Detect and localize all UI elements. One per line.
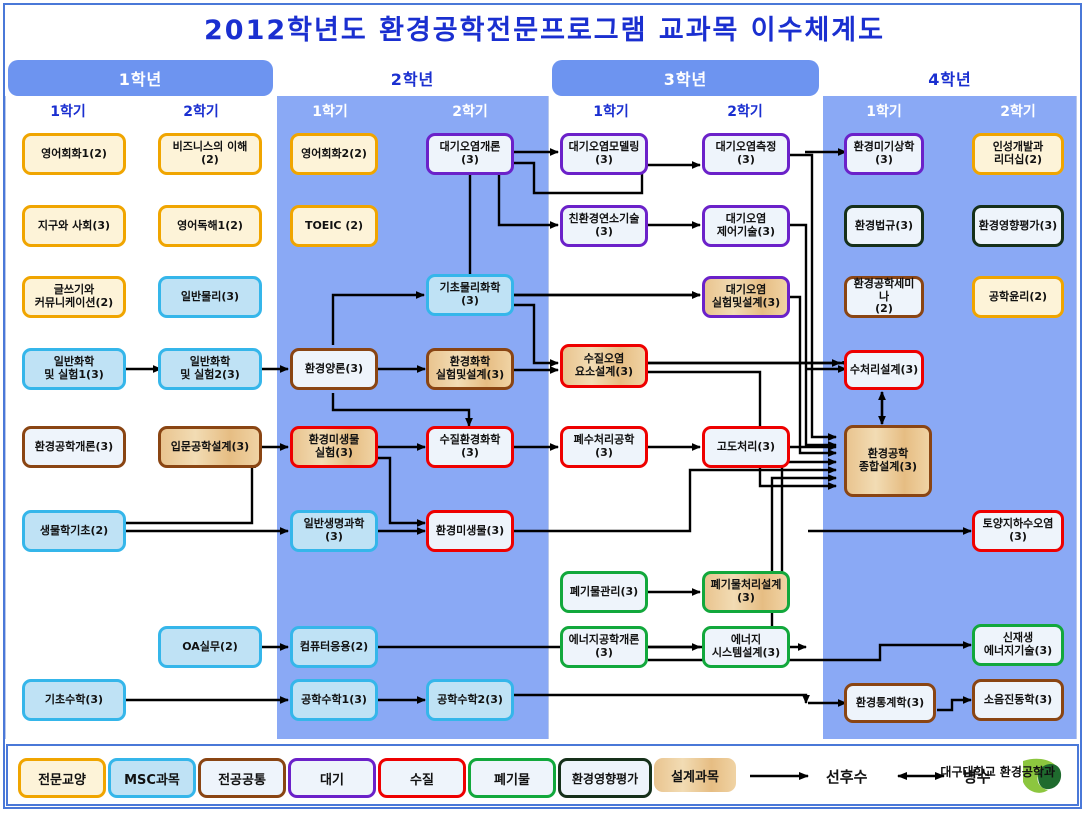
- course-box[interactable]: 기초수학(3): [22, 679, 126, 721]
- course-label: 생물학기초(2): [40, 525, 108, 538]
- legend-bar: 전문교양 MSC과목 전공공통 대기 수질 폐기물 환경영향평가 설계과목 선후…: [6, 744, 1079, 806]
- legend-item-design[interactable]: 설계과목: [654, 758, 736, 792]
- course-label: 대기오염제어기술(3): [717, 213, 775, 239]
- course-box[interactable]: 영어회화1(2): [22, 133, 126, 175]
- course-label: 토양지하수오염(3): [983, 518, 1054, 544]
- year-tab-4[interactable]: 4학년: [823, 60, 1077, 96]
- semester-label-text: 2학기: [183, 104, 219, 120]
- course-box[interactable]: 공학수학1(3): [290, 679, 378, 721]
- course-box[interactable]: 수질오염요소설계(3): [560, 344, 648, 388]
- course-label: 대기오염개론(3): [431, 141, 509, 167]
- semester-label-text: 1학기: [593, 104, 629, 120]
- semester-label-text: 1학기: [866, 104, 902, 120]
- course-label: 친환경연소기술(3): [569, 213, 640, 239]
- course-box[interactable]: 소음진동학(3): [972, 679, 1064, 721]
- year-tab-label: 2학년: [391, 66, 435, 90]
- course-label: 대기오염측정(3): [707, 141, 785, 167]
- course-box[interactable]: 영어독해1(2): [158, 205, 262, 247]
- course-box[interactable]: 대기오염개론(3): [426, 133, 514, 175]
- course-label: 기초수학(3): [45, 694, 103, 707]
- course-box[interactable]: 지구와 사회(3): [22, 205, 126, 247]
- course-box[interactable]: 공학윤리(2): [972, 276, 1064, 318]
- course-box[interactable]: 일반화학및 실험2(3): [158, 348, 262, 390]
- legend-item-eia[interactable]: 환경영향평가: [558, 758, 652, 798]
- course-label: 대기오염모델링(3): [569, 141, 640, 167]
- course-label: 신재생에너지기술(3): [984, 632, 1052, 658]
- course-box[interactable]: 환경통계학(3): [844, 683, 936, 723]
- course-label: 일반화학및 실험1(3): [44, 356, 104, 382]
- semester-label-y3s2: 2학기: [690, 101, 800, 121]
- legend-label: 설계과목: [671, 766, 719, 785]
- course-box[interactable]: 인성개발과리더십(2): [972, 133, 1064, 175]
- course-box[interactable]: 환경영향평가(3): [972, 205, 1064, 247]
- course-label: 일반물리(3): [181, 291, 239, 304]
- course-box[interactable]: 수처리설계(3): [844, 350, 924, 390]
- legend-label: 전문교양: [38, 769, 86, 788]
- course-label: 수처리설계(3): [850, 364, 918, 377]
- semester-label-text: 1학기: [50, 104, 86, 120]
- legend-label: 환경영향평가: [572, 770, 638, 787]
- legend-label: 전공공통: [218, 769, 266, 788]
- course-box[interactable]: 일반생명과학(3): [290, 510, 378, 552]
- single-arrow-icon: [748, 768, 816, 784]
- course-box[interactable]: 고도처리(3): [702, 426, 790, 468]
- page-title: 2012학년도 환경공학전문프로그램 교과목 이수체계도: [0, 8, 1089, 47]
- year-tab-1[interactable]: 1학년: [8, 60, 273, 96]
- course-label: 환경공학개론(3): [35, 441, 113, 454]
- course-box[interactable]: 수질환경화학(3): [426, 426, 514, 468]
- course-box[interactable]: 생물학기초(2): [22, 510, 126, 552]
- course-label: 폐수처리공학(3): [565, 434, 643, 460]
- legend-item-air[interactable]: 대기: [288, 758, 376, 798]
- course-label: 일반화학및 실험2(3): [180, 356, 240, 382]
- course-label: 환경화학실험및설계(3): [436, 356, 504, 382]
- course-label: 고도처리(3): [717, 441, 775, 454]
- course-box[interactable]: 영어회화2(2): [290, 133, 378, 175]
- course-label: 폐기물관리(3): [570, 586, 638, 599]
- course-box[interactable]: 환경양론(3): [290, 348, 378, 390]
- course-box[interactable]: 일반화학및 실험1(3): [22, 348, 126, 390]
- legend-item-waste[interactable]: 폐기물: [468, 758, 556, 798]
- course-box[interactable]: 환경공학개론(3): [22, 426, 126, 468]
- course-label: 지구와 사회(3): [38, 220, 110, 233]
- course-label: 일반생명과학(3): [295, 518, 373, 544]
- course-box[interactable]: 에너지공학개론(3): [560, 626, 648, 668]
- course-box[interactable]: 대기오염실험및설계(3): [702, 276, 790, 318]
- column-separator: [1076, 96, 1077, 739]
- course-box[interactable]: 환경공학종합설계(3): [844, 425, 932, 497]
- column-separator: [5, 96, 6, 739]
- course-box[interactable]: 폐기물처리설계(3): [702, 571, 790, 613]
- course-label: 소음진동학(3): [984, 694, 1052, 707]
- course-box[interactable]: 환경미기상학(3): [844, 133, 924, 175]
- course-box[interactable]: 대기오염모델링(3): [560, 133, 648, 175]
- organization-name: 대구대학교 환경공학과: [940, 763, 1055, 780]
- course-label: 환경공학종합설계(3): [859, 448, 917, 474]
- course-label: 환경양론(3): [305, 363, 363, 376]
- course-label: 폐기물처리설계(3): [711, 579, 782, 605]
- course-box[interactable]: 환경미생물실험(3): [290, 426, 378, 468]
- course-box[interactable]: 환경법규(3): [844, 205, 924, 247]
- semester-label-y1s1: 1학기: [13, 101, 123, 121]
- course-box[interactable]: 일반물리(3): [158, 276, 262, 318]
- legend-label: 수질: [410, 769, 434, 788]
- year-tab-2[interactable]: 2학년: [277, 60, 548, 96]
- course-box[interactable]: 폐기물관리(3): [560, 571, 648, 613]
- year-tab-label: 4학년: [928, 66, 972, 90]
- legend-label: 대기: [320, 769, 344, 788]
- course-label: 영어회화2(2): [301, 148, 367, 161]
- course-box[interactable]: 환경공학세미나(2): [844, 276, 924, 318]
- course-label: 수질오염요소설계(3): [575, 353, 633, 379]
- curriculum-flowchart-page: 2012학년도 환경공학전문프로그램 교과목 이수체계도 1학년 2학년 3학년…: [0, 0, 1089, 814]
- semester-label-text: 2학기: [727, 104, 763, 120]
- semester-label-y3s1: 1학기: [556, 101, 666, 121]
- course-box[interactable]: 입문공학설계(3): [158, 426, 262, 468]
- course-box[interactable]: 공학수학2(3): [426, 679, 514, 721]
- course-label: 공학윤리(2): [989, 291, 1047, 304]
- course-label: 환경법규(3): [855, 220, 913, 233]
- course-box[interactable]: 글쓰기와커뮤니케이션(2): [22, 276, 126, 318]
- course-box[interactable]: 폐수처리공학(3): [560, 426, 648, 468]
- course-box[interactable]: 대기오염측정(3): [702, 133, 790, 175]
- semester-label-y2s2: 2학기: [415, 101, 525, 121]
- course-label: 비즈니스의 이해(2): [173, 141, 248, 167]
- course-label: 환경통계학(3): [856, 697, 924, 710]
- course-label: 컴퓨터응용(2): [300, 641, 368, 654]
- legend-prereq-label: 선후수: [826, 766, 867, 787]
- legend-label: 폐기물: [494, 769, 530, 788]
- course-box[interactable]: 환경미생물(3): [426, 510, 514, 552]
- course-label: 환경공학세미나(2): [849, 278, 919, 317]
- course-box[interactable]: 대기오염제어기술(3): [702, 205, 790, 247]
- semester-label-y2s1: 1학기: [275, 101, 385, 121]
- course-label: OA실무(2): [182, 641, 238, 654]
- course-label: 공학수학2(3): [437, 694, 503, 707]
- semester-label-y1s2: 2학기: [146, 101, 256, 121]
- course-box[interactable]: 에너지시스템설계(3): [702, 626, 790, 668]
- course-label: 환경미생물(3): [436, 525, 504, 538]
- course-label: 대기오염실험및설계(3): [712, 284, 780, 310]
- year-tab-3[interactable]: 3학년: [552, 60, 819, 96]
- column-separator: [548, 96, 549, 739]
- legend-item-water[interactable]: 수질: [378, 758, 466, 798]
- legend-item-gen[interactable]: 전문교양: [18, 758, 106, 798]
- course-label: 인성개발과리더십(2): [993, 141, 1044, 167]
- course-label: 글쓰기와커뮤니케이션(2): [35, 284, 113, 310]
- semester-label-y4s1: 1학기: [829, 101, 939, 121]
- course-box[interactable]: OA실무(2): [158, 626, 262, 668]
- course-label: 입문공학설계(3): [171, 441, 249, 454]
- course-label: 영어회화1(2): [41, 148, 107, 161]
- course-box[interactable]: 기초물리화학(3): [426, 274, 514, 316]
- course-label: 수질환경화학(3): [431, 434, 509, 460]
- course-label: 영어독해1(2): [177, 220, 243, 233]
- course-box[interactable]: 신재생에너지기술(3): [972, 624, 1064, 666]
- course-label: 에너지공학개론(3): [569, 634, 640, 660]
- course-label: 기초물리화학(3): [431, 282, 509, 308]
- course-box[interactable]: TOEIC (2): [290, 205, 378, 247]
- course-label: 에너지시스템설계(3): [712, 634, 780, 660]
- course-box[interactable]: 토양지하수오염(3): [972, 510, 1064, 552]
- semester-label-y4s2: 2학기: [963, 101, 1073, 121]
- course-label: 환경영향평가(3): [979, 220, 1057, 233]
- course-box[interactable]: 비즈니스의 이해(2): [158, 133, 262, 175]
- course-box[interactable]: 환경화학실험및설계(3): [426, 348, 514, 390]
- course-label: 공학수학1(3): [301, 694, 367, 707]
- course-box[interactable]: 친환경연소기술(3): [560, 205, 648, 247]
- legend-item-msc[interactable]: MSC과목: [108, 758, 196, 798]
- year-tab-label: 1학년: [119, 66, 163, 90]
- legend-prereq-text: 선후수: [826, 768, 867, 786]
- semester-label-text: 2학기: [1000, 104, 1036, 120]
- course-box[interactable]: 컴퓨터응용(2): [290, 626, 378, 668]
- course-label: 환경미기상학(3): [849, 141, 919, 167]
- legend-item-core[interactable]: 전공공통: [198, 758, 286, 798]
- course-label: TOEIC (2): [305, 220, 363, 233]
- year-tab-label: 3학년: [664, 66, 708, 90]
- semester-label-text: 2학기: [452, 104, 488, 120]
- legend-label: MSC과목: [124, 769, 180, 788]
- course-label: 환경미생물실험(3): [309, 434, 360, 460]
- semester-label-text: 1학기: [312, 104, 348, 120]
